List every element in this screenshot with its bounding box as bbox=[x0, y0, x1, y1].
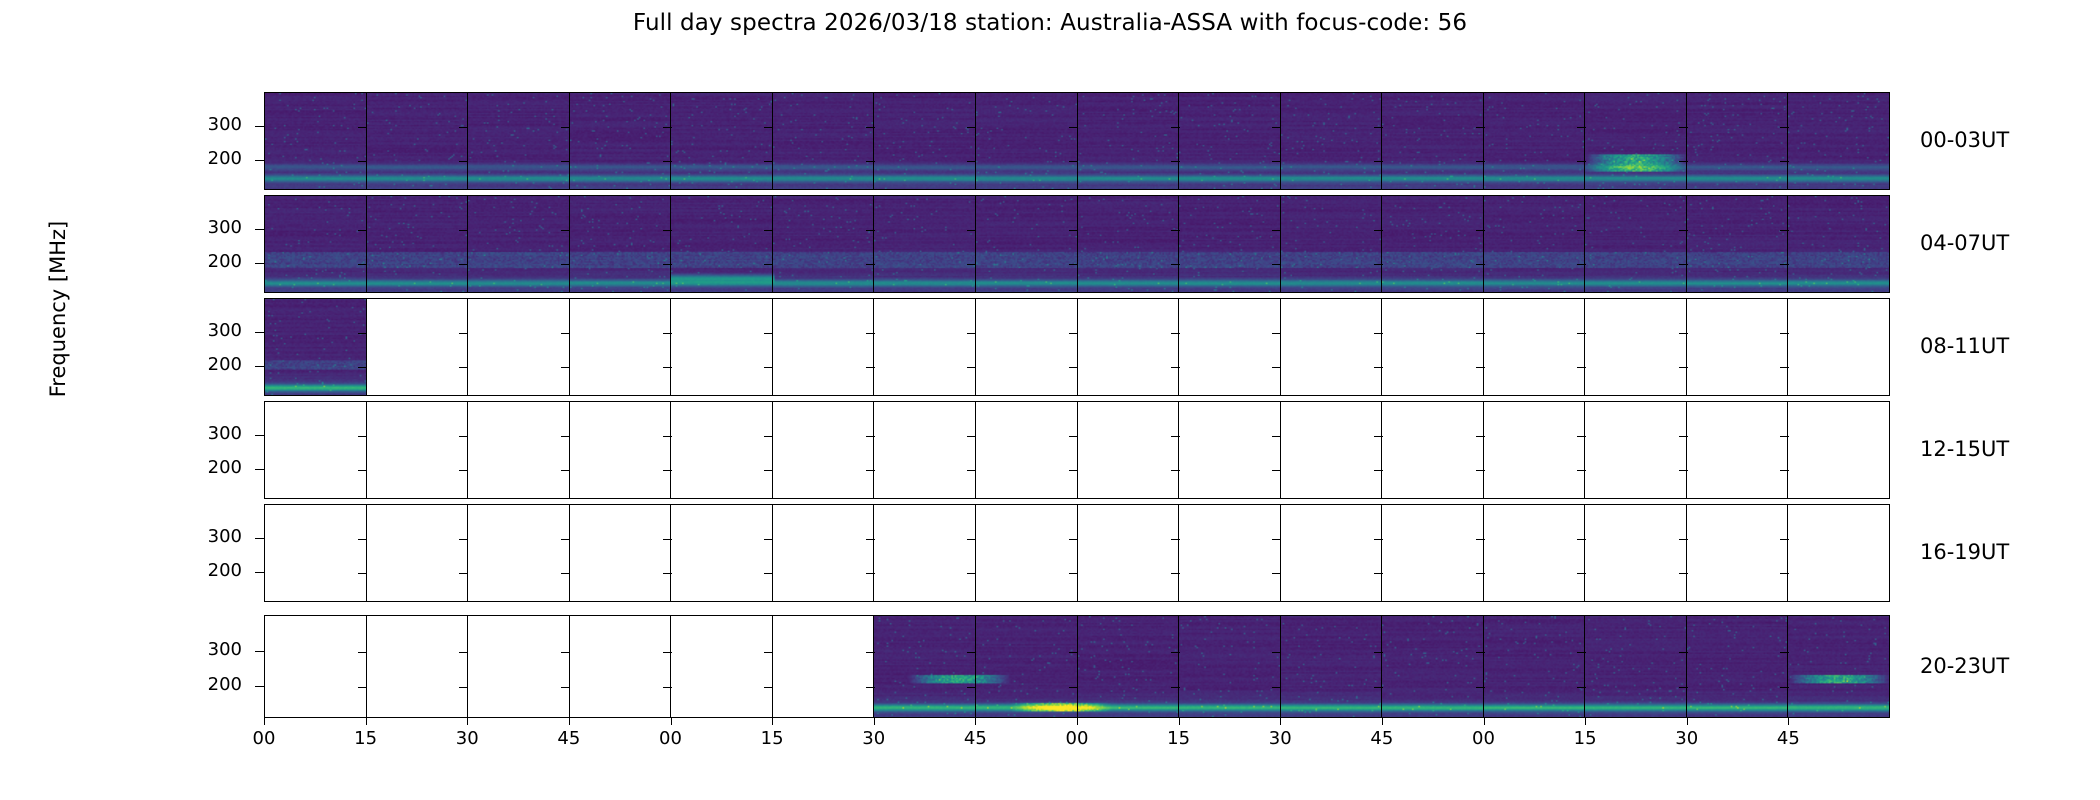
spectrogram-panel[interactable] bbox=[975, 402, 1077, 498]
y-tick-inner bbox=[459, 652, 468, 653]
y-tick-inner bbox=[1272, 333, 1281, 334]
y-tick-inner bbox=[561, 127, 570, 128]
y-tick-inner bbox=[1272, 367, 1281, 368]
spectrogram-panel[interactable] bbox=[1381, 93, 1483, 189]
y-tick-inner bbox=[764, 652, 773, 653]
spectrogram-image bbox=[874, 616, 975, 717]
y-tick-inner bbox=[1171, 652, 1180, 653]
y-tick-inner bbox=[1374, 470, 1383, 471]
y-tick-inner bbox=[764, 470, 773, 471]
y-tick bbox=[255, 651, 264, 652]
x-tick-label: 45 bbox=[557, 728, 580, 749]
spectrogram-image bbox=[1078, 196, 1179, 292]
y-tick-inner bbox=[1780, 367, 1789, 368]
spectrogram-panel[interactable] bbox=[772, 402, 874, 498]
y-tick-inner bbox=[764, 436, 773, 437]
panel-strip bbox=[265, 505, 1889, 601]
y-tick-inner bbox=[1679, 573, 1688, 574]
spectrogram-panel[interactable] bbox=[772, 93, 874, 189]
row-label-12-15ut: 12-15UT bbox=[1920, 437, 2009, 461]
spectrogram-panel[interactable] bbox=[772, 196, 874, 292]
y-tick-inner bbox=[459, 470, 468, 471]
spectrogram-panel[interactable] bbox=[1381, 402, 1483, 498]
spectrogram-row-00-03ut[interactable] bbox=[264, 92, 1890, 190]
y-tick-inner bbox=[866, 470, 875, 471]
spectrogram-panel[interactable] bbox=[1280, 196, 1382, 292]
x-tick-label: 00 bbox=[253, 728, 276, 749]
spectrogram-image bbox=[1687, 93, 1788, 189]
spectrogram-panel[interactable] bbox=[265, 93, 366, 189]
y-tick-inner bbox=[1577, 539, 1586, 540]
spectrogram-row-08-11ut[interactable] bbox=[264, 298, 1890, 396]
y-tick-inner bbox=[358, 127, 367, 128]
spectrogram-panel[interactable] bbox=[873, 402, 975, 498]
y-tick-inner bbox=[1374, 367, 1383, 368]
spectrogram-panel[interactable] bbox=[265, 402, 366, 498]
x-tick-label: 30 bbox=[1675, 728, 1698, 749]
y-tick-inner bbox=[1171, 161, 1180, 162]
panel-strip bbox=[265, 93, 1889, 189]
spectrogram-row-04-07ut[interactable] bbox=[264, 195, 1890, 293]
spectrogram-panel[interactable] bbox=[1483, 402, 1585, 498]
spectrogram-panel[interactable] bbox=[873, 196, 975, 292]
spectrogram-panel[interactable] bbox=[265, 196, 366, 292]
figure-title: Full day spectra 2026/03/18 station: Aus… bbox=[0, 10, 2100, 36]
spectrogram-panel[interactable] bbox=[467, 505, 569, 601]
spectrogram-image bbox=[976, 196, 1077, 292]
y-tick-inner bbox=[1577, 573, 1586, 574]
x-tick bbox=[467, 718, 468, 725]
y-tick-inner bbox=[1374, 539, 1383, 540]
spectrogram-panel[interactable] bbox=[1584, 93, 1686, 189]
y-tick-inner bbox=[1476, 470, 1485, 471]
spectrogram-image bbox=[1382, 616, 1483, 717]
y-tick-inner bbox=[1272, 652, 1281, 653]
y-tick bbox=[255, 572, 264, 573]
spectrogram-panel[interactable] bbox=[366, 93, 468, 189]
y-tick-inner bbox=[1780, 436, 1789, 437]
spectrogram-image bbox=[265, 93, 366, 189]
spectrogram-image bbox=[1179, 196, 1280, 292]
spectrogram-panel[interactable] bbox=[975, 616, 1077, 717]
y-tick-label: 200 bbox=[182, 457, 242, 478]
spectrogram-panel[interactable] bbox=[1077, 299, 1179, 395]
y-tick-inner bbox=[1069, 573, 1078, 574]
spectrogram-panel[interactable] bbox=[1178, 299, 1280, 395]
y-tick-inner bbox=[967, 230, 976, 231]
y-tick-inner bbox=[1171, 264, 1180, 265]
spectrogram-panel[interactable] bbox=[1686, 616, 1788, 717]
y-tick-inner bbox=[1272, 127, 1281, 128]
panel-strip bbox=[265, 299, 1889, 395]
spectrogram-panel[interactable] bbox=[467, 93, 569, 189]
y-tick-inner bbox=[1679, 264, 1688, 265]
spectrogram-panel[interactable] bbox=[873, 616, 975, 717]
spectrogram-image bbox=[976, 93, 1077, 189]
y-tick-inner bbox=[1577, 230, 1586, 231]
y-tick-inner bbox=[561, 367, 570, 368]
spectrogram-image bbox=[265, 299, 366, 395]
spectrogram-image bbox=[468, 196, 569, 292]
spectrogram-image bbox=[1687, 616, 1788, 717]
spectrogram-panel[interactable] bbox=[772, 505, 874, 601]
spectrogram-panel[interactable] bbox=[772, 616, 874, 717]
y-tick-inner bbox=[967, 333, 976, 334]
x-axis: 00153045001530450015304500153045 bbox=[264, 718, 1890, 719]
y-tick bbox=[255, 126, 264, 127]
y-tick-inner bbox=[561, 539, 570, 540]
spectrogram-image bbox=[671, 93, 772, 189]
y-tick-label: 300 bbox=[182, 423, 242, 444]
spectrogram-panel[interactable] bbox=[1686, 402, 1788, 498]
spectrogram-panel[interactable] bbox=[467, 616, 569, 717]
x-tick bbox=[874, 718, 875, 725]
spectrogram-panel[interactable] bbox=[265, 616, 366, 717]
spectrogram-panel[interactable] bbox=[1280, 505, 1382, 601]
spectrogram-panel[interactable] bbox=[1483, 93, 1585, 189]
y-tick-inner bbox=[459, 687, 468, 688]
y-tick bbox=[255, 686, 264, 687]
spectrogram-panel[interactable] bbox=[569, 196, 671, 292]
y-tick-inner bbox=[1476, 333, 1485, 334]
y-tick-inner bbox=[1577, 436, 1586, 437]
y-tick-inner bbox=[1069, 127, 1078, 128]
spectrogram-panel[interactable] bbox=[670, 299, 772, 395]
spectrogram-image bbox=[1788, 93, 1889, 189]
spectrogram-image bbox=[1078, 93, 1179, 189]
y-tick bbox=[255, 366, 264, 367]
y-tick-inner bbox=[1780, 539, 1789, 540]
y-tick-inner bbox=[459, 161, 468, 162]
y-tick bbox=[255, 332, 264, 333]
y-tick-inner bbox=[1780, 573, 1789, 574]
x-tick-label: 30 bbox=[1269, 728, 1292, 749]
x-tick-label: 00 bbox=[1472, 728, 1495, 749]
spectrogram-panel[interactable] bbox=[1686, 505, 1788, 601]
spectrogram-panel[interactable] bbox=[1686, 299, 1788, 395]
spectrogram-panel[interactable] bbox=[1381, 616, 1483, 717]
spectrogram-panel[interactable] bbox=[366, 402, 468, 498]
y-tick-inner bbox=[1069, 333, 1078, 334]
y-tick bbox=[255, 538, 264, 539]
y-tick-inner bbox=[1679, 367, 1688, 368]
spectrogram-panel[interactable] bbox=[1483, 505, 1585, 601]
spectrogram-panel[interactable] bbox=[1787, 616, 1889, 717]
y-tick-inner bbox=[1476, 230, 1485, 231]
spectrogram-image bbox=[1788, 616, 1889, 717]
spectrogram-panel[interactable] bbox=[1178, 616, 1280, 717]
y-tick-inner bbox=[967, 470, 976, 471]
y-tick-inner bbox=[1069, 539, 1078, 540]
spectrogram-image bbox=[367, 93, 468, 189]
spectrogram-image bbox=[1484, 93, 1585, 189]
y-tick bbox=[255, 263, 264, 264]
y-tick-inner bbox=[967, 687, 976, 688]
x-tick bbox=[1382, 718, 1383, 725]
x-tick-label: 15 bbox=[761, 728, 784, 749]
spectrogram-panel[interactable] bbox=[1787, 196, 1889, 292]
spectrogram-panel[interactable] bbox=[1686, 196, 1788, 292]
y-tick-inner bbox=[1069, 230, 1078, 231]
spectrogram-panel[interactable] bbox=[772, 299, 874, 395]
y-tick-inner bbox=[358, 333, 367, 334]
y-tick-inner bbox=[358, 470, 367, 471]
spectrogram-image bbox=[265, 196, 366, 292]
y-tick-inner bbox=[1374, 652, 1383, 653]
y-tick-inner bbox=[967, 652, 976, 653]
y-tick-inner bbox=[1272, 161, 1281, 162]
spectrogram-image bbox=[468, 93, 569, 189]
spectrogram-panel[interactable] bbox=[975, 196, 1077, 292]
spectrogram-panel[interactable] bbox=[569, 616, 671, 717]
y-tick-inner bbox=[1272, 687, 1281, 688]
y-tick-inner bbox=[561, 333, 570, 334]
spectrogram-panel[interactable] bbox=[1483, 616, 1585, 717]
spectrogram-panel[interactable] bbox=[265, 299, 366, 395]
y-tick-inner bbox=[1679, 652, 1688, 653]
y-tick-inner bbox=[1679, 333, 1688, 334]
y-tick-inner bbox=[1780, 652, 1789, 653]
y-tick-label: 200 bbox=[182, 560, 242, 581]
y-tick-inner bbox=[561, 573, 570, 574]
spectrogram-panel[interactable] bbox=[1280, 299, 1382, 395]
y-tick-inner bbox=[1272, 230, 1281, 231]
y-tick-inner bbox=[1577, 333, 1586, 334]
spectrogram-panel[interactable] bbox=[467, 196, 569, 292]
panel-strip bbox=[265, 196, 1889, 292]
spectrogram-row-20-23ut[interactable] bbox=[264, 615, 1890, 718]
y-tick-inner bbox=[1171, 436, 1180, 437]
spectrogram-panel[interactable] bbox=[1584, 299, 1686, 395]
y-tick-inner bbox=[358, 539, 367, 540]
y-tick-inner bbox=[1679, 470, 1688, 471]
y-tick-inner bbox=[663, 652, 672, 653]
spectrogram-panel[interactable] bbox=[873, 505, 975, 601]
y-tick-inner bbox=[358, 573, 367, 574]
y-tick-inner bbox=[1069, 367, 1078, 368]
spectrogram-panel[interactable] bbox=[1381, 505, 1483, 601]
row-label-04-07ut: 04-07UT bbox=[1920, 231, 2009, 255]
y-tick-inner bbox=[1679, 127, 1688, 128]
figure-root: Full day spectra 2026/03/18 station: Aus… bbox=[0, 0, 2100, 800]
y-tick-inner bbox=[1780, 470, 1789, 471]
x-tick-label: 15 bbox=[1167, 728, 1190, 749]
x-tick bbox=[366, 718, 367, 725]
spectrogram-panel[interactable] bbox=[873, 299, 975, 395]
y-tick-label: 300 bbox=[182, 114, 242, 135]
spectrogram-image bbox=[1788, 196, 1889, 292]
spectrogram-panel[interactable] bbox=[670, 505, 772, 601]
spectrogram-panel[interactable] bbox=[1787, 93, 1889, 189]
y-tick-label: 200 bbox=[182, 148, 242, 169]
spectrogram-panel[interactable] bbox=[467, 402, 569, 498]
spectrogram-panel[interactable] bbox=[1178, 196, 1280, 292]
spectrogram-panel[interactable] bbox=[670, 402, 772, 498]
y-tick-inner bbox=[1780, 161, 1789, 162]
spectrogram-panel[interactable] bbox=[1178, 505, 1280, 601]
y-tick-label: 200 bbox=[182, 674, 242, 695]
y-tick-inner bbox=[866, 230, 875, 231]
y-tick-inner bbox=[1679, 436, 1688, 437]
x-tick-label: 30 bbox=[862, 728, 885, 749]
spectrogram-panel[interactable] bbox=[1483, 299, 1585, 395]
x-tick bbox=[1484, 718, 1485, 725]
spectrogram-image bbox=[1179, 616, 1280, 717]
spectrogram-panel[interactable] bbox=[1280, 93, 1382, 189]
y-tick-inner bbox=[866, 127, 875, 128]
y-tick-inner bbox=[459, 367, 468, 368]
spectrogram-panel[interactable] bbox=[1280, 402, 1382, 498]
x-tick bbox=[1077, 718, 1078, 725]
x-tick-label: 15 bbox=[1574, 728, 1597, 749]
y-tick-label: 300 bbox=[182, 320, 242, 341]
spectrogram-row-16-19ut[interactable] bbox=[264, 504, 1890, 602]
y-tick-inner bbox=[358, 436, 367, 437]
y-tick-inner bbox=[764, 367, 773, 368]
x-tick bbox=[1585, 718, 1586, 725]
x-tick bbox=[569, 718, 570, 725]
spectrogram-panel[interactable] bbox=[1686, 93, 1788, 189]
spectrogram-panel[interactable] bbox=[1077, 616, 1179, 717]
spectrogram-image bbox=[1585, 196, 1686, 292]
spectrogram-panel[interactable] bbox=[1178, 402, 1280, 498]
y-tick-inner bbox=[459, 539, 468, 540]
spectrogram-panel[interactable] bbox=[1584, 505, 1686, 601]
spectrogram-image bbox=[1585, 616, 1686, 717]
spectrogram-image bbox=[570, 93, 671, 189]
spectrogram-panel[interactable] bbox=[366, 299, 468, 395]
y-tick-inner bbox=[358, 264, 367, 265]
y-tick-inner bbox=[663, 127, 672, 128]
row-label-20-23ut: 20-23UT bbox=[1920, 654, 2009, 678]
y-tick bbox=[255, 469, 264, 470]
spectrogram-panel[interactable] bbox=[1584, 616, 1686, 717]
y-tick-inner bbox=[764, 230, 773, 231]
spectrogram-panel[interactable] bbox=[1483, 196, 1585, 292]
y-tick-inner bbox=[866, 436, 875, 437]
y-axis-label: Frequency [MHz] bbox=[46, 159, 70, 459]
spectrogram-panel[interactable] bbox=[569, 505, 671, 601]
y-tick-inner bbox=[561, 687, 570, 688]
spectrogram-panel[interactable] bbox=[366, 616, 468, 717]
spectrogram-image bbox=[1382, 93, 1483, 189]
y-tick-inner bbox=[459, 333, 468, 334]
y-tick-inner bbox=[967, 367, 976, 368]
spectrogram-image bbox=[1179, 93, 1280, 189]
y-tick-inner bbox=[1069, 687, 1078, 688]
spectrogram-panel[interactable] bbox=[569, 402, 671, 498]
spectrogram-panel[interactable] bbox=[569, 299, 671, 395]
y-tick-inner bbox=[764, 264, 773, 265]
spectrogram-image bbox=[570, 196, 671, 292]
y-tick-inner bbox=[1069, 652, 1078, 653]
y-tick-inner bbox=[1476, 264, 1485, 265]
y-tick-inner bbox=[1780, 333, 1789, 334]
spectrogram-panel[interactable] bbox=[1787, 505, 1889, 601]
y-tick-label: 200 bbox=[182, 251, 242, 272]
spectrogram-image bbox=[367, 196, 468, 292]
y-tick-inner bbox=[459, 573, 468, 574]
spectrogram-panel[interactable] bbox=[975, 93, 1077, 189]
spectrogram-panel[interactable] bbox=[1584, 196, 1686, 292]
x-tick bbox=[1179, 718, 1180, 725]
spectrogram-panel[interactable] bbox=[265, 505, 366, 601]
spectrogram-panel[interactable] bbox=[467, 299, 569, 395]
spectrogram-image bbox=[874, 93, 975, 189]
y-tick-inner bbox=[358, 230, 367, 231]
spectrogram-panel[interactable] bbox=[1381, 299, 1483, 395]
y-tick-inner bbox=[1476, 573, 1485, 574]
y-tick-inner bbox=[1780, 127, 1789, 128]
y-tick-inner bbox=[663, 470, 672, 471]
y-tick-inner bbox=[663, 436, 672, 437]
panel-strip bbox=[265, 616, 1889, 717]
spectrogram-panel[interactable] bbox=[366, 196, 468, 292]
y-tick-inner bbox=[1272, 539, 1281, 540]
y-tick-inner bbox=[459, 436, 468, 437]
y-tick-inner bbox=[1272, 264, 1281, 265]
x-tick bbox=[671, 718, 672, 725]
y-tick-inner bbox=[663, 230, 672, 231]
spectrogram-panel[interactable] bbox=[1077, 93, 1179, 189]
x-tick bbox=[264, 718, 265, 725]
spectrogram-panel[interactable] bbox=[670, 93, 772, 189]
y-tick-inner bbox=[1577, 470, 1586, 471]
y-tick-inner bbox=[1476, 539, 1485, 540]
spectrogram-panel[interactable] bbox=[569, 93, 671, 189]
x-tick-label: 15 bbox=[354, 728, 377, 749]
y-tick-inner bbox=[1069, 161, 1078, 162]
x-tick bbox=[1687, 718, 1688, 725]
spectrogram-panel[interactable] bbox=[670, 616, 772, 717]
y-tick-inner bbox=[1374, 573, 1383, 574]
spectrogram-panel[interactable] bbox=[1787, 299, 1889, 395]
y-tick-inner bbox=[967, 436, 976, 437]
y-tick-inner bbox=[1577, 127, 1586, 128]
spectrogram-panel[interactable] bbox=[670, 196, 772, 292]
y-tick bbox=[255, 229, 264, 230]
spectrogram-panel[interactable] bbox=[1280, 616, 1382, 717]
y-tick-label: 300 bbox=[182, 217, 242, 238]
spectrogram-panel[interactable] bbox=[366, 505, 468, 601]
y-tick-inner bbox=[967, 264, 976, 265]
y-tick-inner bbox=[1171, 230, 1180, 231]
x-tick-label: 00 bbox=[659, 728, 682, 749]
y-tick-inner bbox=[967, 573, 976, 574]
y-tick-inner bbox=[967, 161, 976, 162]
y-tick-inner bbox=[1374, 333, 1383, 334]
spectrogram-panel[interactable] bbox=[975, 505, 1077, 601]
y-tick-inner bbox=[1374, 687, 1383, 688]
spectrogram-panel[interactable] bbox=[1178, 93, 1280, 189]
spectrogram-panel[interactable] bbox=[975, 299, 1077, 395]
spectrogram-panel[interactable] bbox=[1077, 196, 1179, 292]
spectrogram-panel[interactable] bbox=[1077, 505, 1179, 601]
spectrogram-row-12-15ut[interactable] bbox=[264, 401, 1890, 499]
spectrogram-panel[interactable] bbox=[1077, 402, 1179, 498]
spectrogram-panel[interactable] bbox=[873, 93, 975, 189]
spectrogram-panel[interactable] bbox=[1584, 402, 1686, 498]
y-tick-inner bbox=[764, 573, 773, 574]
y-tick-inner bbox=[866, 367, 875, 368]
x-tick-label: 45 bbox=[1777, 728, 1800, 749]
y-tick-inner bbox=[1476, 367, 1485, 368]
y-tick-inner bbox=[358, 687, 367, 688]
y-tick bbox=[255, 160, 264, 161]
spectrogram-panel[interactable] bbox=[1381, 196, 1483, 292]
spectrogram-panel[interactable] bbox=[1787, 402, 1889, 498]
spectrogram-image bbox=[1484, 616, 1585, 717]
